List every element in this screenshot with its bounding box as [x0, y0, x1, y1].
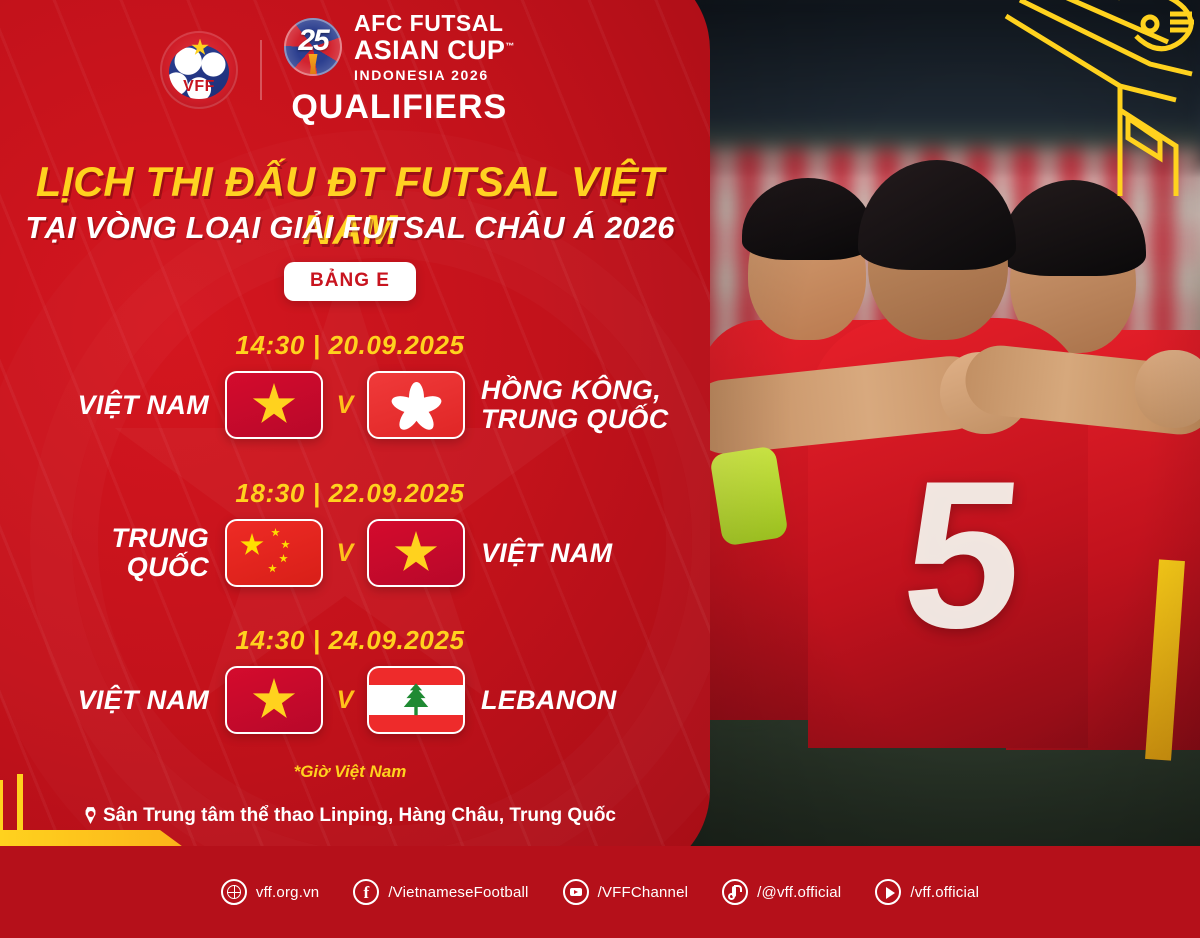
play-icon — [875, 879, 901, 905]
away-team-name: LEBANON — [465, 686, 675, 715]
versus-separator: V — [323, 686, 367, 715]
social-link-play[interactable]: /vff.official — [875, 879, 979, 905]
social-label: /@vff.official — [757, 884, 841, 901]
social-label: /vff.official — [910, 884, 979, 901]
lebanon-flag — [367, 666, 465, 734]
afc-logo-line2-text: ASIAN CUP — [354, 35, 505, 65]
social-link-tiktok[interactable]: /@vff.official — [722, 879, 841, 905]
match-row: 14:30 | 24.09.2025 VIỆT NAM V LEBANON — [0, 625, 700, 734]
page-subtitle: TẠI VÒNG LOẠI GIẢI FUTSAL CHÂU Á 2026 — [0, 210, 700, 246]
globe-icon — [221, 879, 247, 905]
away-team-line1: HỒNG KÔNG, — [481, 376, 675, 405]
social-link-facebook[interactable]: f /VietnameseFootball — [353, 879, 528, 905]
versus-separator: V — [323, 539, 367, 568]
vff-logo: VFF — [160, 31, 238, 109]
match-row: 18:30 | 22.09.2025 TRUNG QUỐC V VIỆT NAM — [0, 478, 700, 587]
social-label: vff.org.vn — [256, 884, 319, 901]
afc-futsal-asian-cup-logo: 25 AFC FUTSAL ASIAN CUP™ INDONESIA 2026 … — [284, 12, 515, 127]
match-row: 14:30 | 20.09.2025 VIỆT NAM V HỒNG KÔNG,… — [0, 330, 700, 439]
vietnam-flag — [225, 666, 323, 734]
home-team-name: VIỆT NAM — [25, 391, 225, 420]
tiktok-icon — [722, 879, 748, 905]
red-info-panel: VFF 25 AFC FUTSAL ASIAN CUP™ INDONESI — [0, 0, 710, 880]
logo-row: VFF 25 AFC FUTSAL ASIAN CUP™ INDONESI — [160, 12, 515, 127]
afc-emblem-number: 25 — [284, 24, 342, 58]
afc-logo-line2: ASIAN CUP™ — [354, 37, 515, 64]
social-link-youtube[interactable]: /VFFChannel — [563, 879, 689, 905]
social-links-bar: vff.org.vn f /VietnameseFootball /VFFCha… — [0, 846, 1200, 938]
futsal-schedule-poster: 5 VFF — [0, 0, 1200, 938]
home-team-name: TRUNG QUỐC — [25, 524, 225, 581]
away-team-name: VIỆT NAM — [465, 539, 675, 568]
hong-kong-flag — [367, 371, 465, 439]
away-team-name: HỒNG KÔNG, TRUNG QUỐC — [465, 376, 675, 433]
home-team-name: VIỆT NAM — [25, 686, 225, 715]
afc-logo-line3: INDONESIA 2026 — [354, 68, 515, 82]
vietnam-flag — [367, 519, 465, 587]
vietnam-flag — [225, 371, 323, 439]
versus-separator: V — [323, 391, 367, 420]
trademark-symbol: ™ — [505, 41, 514, 51]
china-flag — [225, 519, 323, 587]
afc-logo-line1: AFC FUTSAL — [354, 12, 515, 35]
lac-bird-decoration-top-right — [1000, 0, 1200, 200]
logo-divider — [260, 40, 262, 100]
watermark-star — [105, 260, 585, 740]
match-time-date: 14:30 | 20.09.2025 — [0, 330, 700, 361]
match-time-date: 18:30 | 22.09.2025 — [0, 478, 700, 509]
group-badge: BẢNG E — [284, 262, 416, 301]
away-team-line2: TRUNG QUỐC — [481, 405, 675, 434]
social-link-website[interactable]: vff.org.vn — [221, 879, 319, 905]
qualifiers-label: QUALIFIERS — [284, 88, 515, 127]
facebook-icon: f — [353, 879, 379, 905]
youtube-icon — [563, 879, 589, 905]
social-label: /VietnameseFootball — [388, 884, 528, 901]
social-label: /VFFChannel — [598, 884, 689, 901]
match-time-date: 14:30 | 24.09.2025 — [0, 625, 700, 656]
vff-logo-text: VFF — [160, 78, 238, 96]
afc-emblem-icon: 25 — [284, 18, 342, 76]
